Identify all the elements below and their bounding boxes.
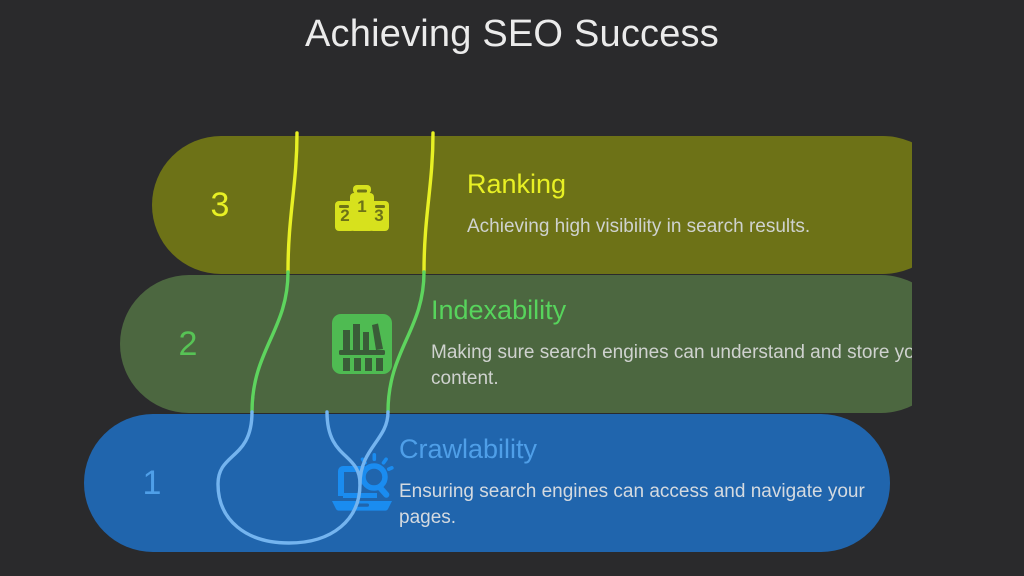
svg-text:3: 3	[374, 206, 383, 225]
row-ranking-text: Ranking Achieving high visibility in sea…	[467, 136, 987, 274]
row-crawlability-surface: 1	[84, 414, 890, 552]
page-title: Achieving SEO Success	[0, 13, 1024, 56]
step-heading-indexability: Indexability	[431, 296, 951, 326]
step-row-ranking[interactable]: 3 1 2 3	[152, 136, 952, 274]
step-row-indexability[interactable]: 2	[120, 275, 950, 413]
row-indexability-surface: 2	[120, 275, 950, 413]
bookshelf-icon	[287, 275, 437, 413]
step-description-ranking: Achieving high visibility in search resu…	[467, 214, 987, 240]
step-number-3: 3	[160, 136, 280, 274]
svg-text:1: 1	[357, 197, 366, 216]
infographic-canvas: Achieving SEO Success 3 1 2 3	[0, 0, 1024, 576]
podium-123-icon: 1 2 3	[287, 136, 437, 274]
step-description-indexability: Making sure search engines can understan…	[431, 340, 951, 392]
step-number-1: 1	[92, 414, 212, 552]
svg-text:2: 2	[340, 206, 349, 225]
step-heading-crawlability: Crawlability	[399, 435, 919, 465]
step-row-crawlability[interactable]: 1	[84, 414, 890, 552]
step-description-crawlability: Ensuring search engines can access and n…	[399, 479, 919, 531]
row-crawlability-text: Crawlability Ensuring search engines can…	[399, 414, 919, 552]
row-ranking-surface: 3 1 2 3	[152, 136, 952, 274]
step-heading-ranking: Ranking	[467, 170, 987, 200]
row-indexability-text: Indexability Making sure search engines …	[431, 275, 951, 413]
step-number-2: 2	[128, 275, 248, 413]
